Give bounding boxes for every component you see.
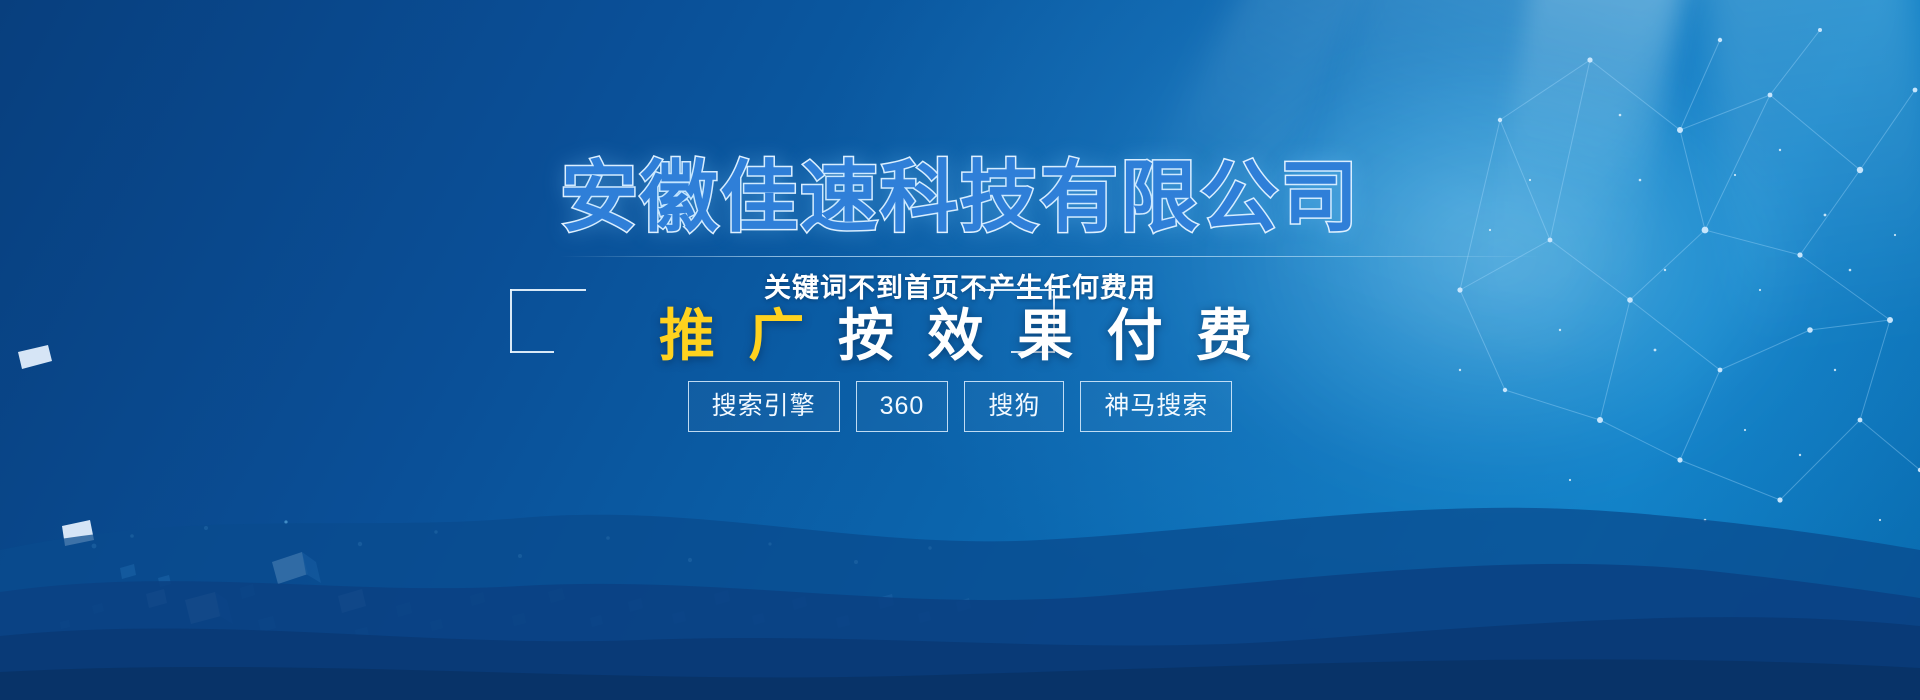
bracket-top-left — [510, 289, 586, 291]
tagline-rest-text: 按 效 果 付 费 — [813, 304, 1261, 367]
button-360[interactable]: 360 — [856, 381, 949, 432]
title-divider — [560, 256, 1540, 257]
button-sogou[interactable]: 搜狗 — [964, 381, 1064, 432]
company-title-text: 安徽佳速科技有限公司 — [560, 152, 1360, 242]
hero-banner: 安徽佳速科技有限公司 关键词不到首页不产生任何费用 推 广 按 效 果 付 费 … — [0, 0, 1920, 700]
button-search-engine[interactable]: 搜索引擎 — [688, 381, 840, 432]
search-engine-button-row: 搜索引擎 360 搜狗 神马搜索 — [0, 381, 1920, 432]
page-title: 安徽佳速科技有限公司 — [0, 152, 1920, 242]
banner-content: 安徽佳速科技有限公司 关键词不到首页不产生任何费用 推 广 按 效 果 付 费 … — [0, 0, 1920, 700]
tagline-wrapper: 推 广 按 效 果 付 费 — [659, 300, 1261, 372]
bracket-top-right — [979, 289, 1055, 291]
button-shenma-search[interactable]: 神马搜索 — [1080, 381, 1232, 432]
tagline: 推 广 按 效 果 付 费 — [0, 300, 1920, 372]
tagline-highlight-text: 推 广 — [659, 304, 814, 367]
subtitle-text: 关键词不到首页不产生任何费用 — [764, 273, 1156, 303]
